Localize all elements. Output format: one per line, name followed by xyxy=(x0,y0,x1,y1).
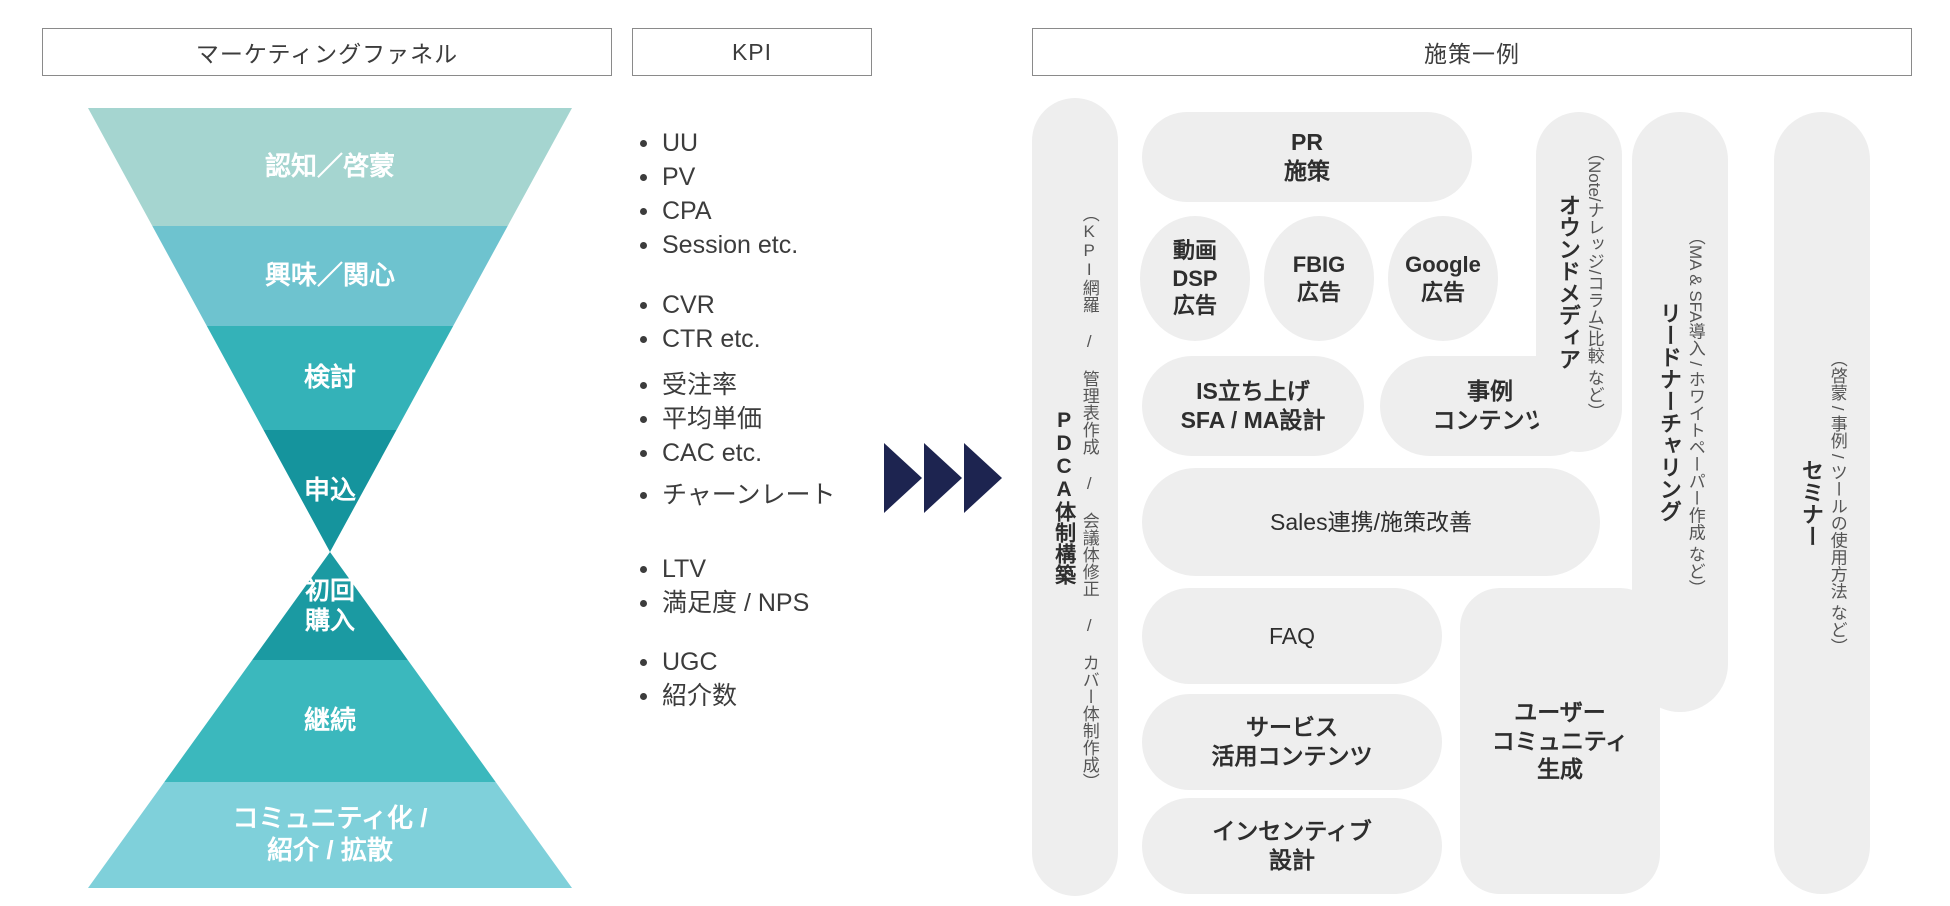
measure-card-is-setup[interactable]: IS立ち上げSFA / MA設計 xyxy=(1142,356,1364,456)
card-label: 動画DSP広告 xyxy=(1172,237,1217,320)
kpi-list: CVRCTR etc. xyxy=(636,288,966,356)
funnel-segment xyxy=(264,430,397,552)
kpi-item: LTV xyxy=(636,552,966,586)
measure-card-google-ad[interactable]: Google広告 xyxy=(1388,216,1498,341)
kpi-group: UGC紹介数 xyxy=(636,645,966,713)
kpi-list: LTV満足度 / NPS xyxy=(636,552,966,620)
measure-card-pdca[interactable]: PDCA体制構築（KPI網羅 / 管理表作成 / 会議体修正 / カバー体制作成… xyxy=(1032,98,1118,896)
funnel-segment xyxy=(164,660,495,782)
triangle-right-icon xyxy=(964,443,1002,513)
kpi-item: 紹介数 xyxy=(636,679,966,713)
header-measures-label: 施策一例 xyxy=(1424,35,1520,69)
measure-card-sales-linkage[interactable]: Sales連携/施策改善 xyxy=(1142,468,1600,576)
header-measures: 施策一例 xyxy=(1032,28,1912,76)
funnel-shape xyxy=(0,0,640,906)
measure-card-lead-nurture[interactable]: リードナーチャリング（MA & SFA導入 / ホワイトペーパー作成 など） xyxy=(1632,112,1728,712)
measures-panel: PDCA体制構築（KPI網羅 / 管理表作成 / 会議体修正 / カバー体制作成… xyxy=(1032,96,1922,896)
card-label: サービス活用コンテンツ xyxy=(1212,713,1373,771)
kpi-group: LTV満足度 / NPS xyxy=(636,552,966,620)
triangle-right-icon xyxy=(924,443,962,513)
measure-card-user-community[interactable]: ユーザーコミュニティ生成 xyxy=(1460,588,1660,894)
kpi-item: CTR etc. xyxy=(636,322,966,356)
kpi-item: 満足度 / NPS xyxy=(636,586,966,620)
seminar-subtitle: （啓蒙 / 事例 / ツールの使用方法 など） xyxy=(1825,350,1848,655)
flow-arrow-group xyxy=(884,443,1004,513)
measure-card-seminar[interactable]: セミナー（啓蒙 / 事例 / ツールの使用方法 など） xyxy=(1774,112,1870,894)
measure-card-owned-media[interactable]: オウンドメディア（Note/ナレッジ/コラム/比較 など） xyxy=(1536,112,1622,452)
kpi-list: UGC紹介数 xyxy=(636,645,966,713)
pdca-title: PDCA体制構築 xyxy=(1050,409,1077,585)
kpi-item: 平均単価 xyxy=(636,402,966,436)
card-label: Sales連携/施策改善 xyxy=(1270,508,1472,537)
kpi-item: UGC xyxy=(636,645,966,679)
card-label: PR施策 xyxy=(1284,128,1330,186)
funnel-segment xyxy=(88,782,572,888)
owned-media-subtitle: （Note/ナレッジ/コラム/比較 など） xyxy=(1582,144,1605,420)
funnel-segment xyxy=(207,326,453,430)
triangle-right-icon xyxy=(884,443,922,513)
funnel-segment xyxy=(88,108,572,226)
owned-media-title: オウンドメディア xyxy=(1553,194,1582,370)
seminar-title: セミナー xyxy=(1796,459,1825,547)
card-label: Google広告 xyxy=(1405,251,1481,306)
funnel-segment xyxy=(152,226,507,326)
kpi-group: UUPVCPASession etc. xyxy=(636,126,966,262)
measure-card-pr[interactable]: PR施策 xyxy=(1142,112,1472,202)
measure-card-video-dsp-ad[interactable]: 動画DSP広告 xyxy=(1140,216,1250,341)
kpi-item: CPA xyxy=(636,194,966,228)
card-label: IS立ち上げSFA / MA設計 xyxy=(1181,377,1326,435)
marketing-funnel-chart: 認知／啓蒙興味／関心検討申込初回購入継続コミュニティ化 /紹介 / 拡散 xyxy=(0,0,640,906)
lead-nurture-title: リードナーチャリング xyxy=(1654,302,1683,522)
kpi-item: 受注率 xyxy=(636,368,966,402)
kpi-item: UU xyxy=(636,126,966,160)
diagram-canvas: マーケティングファネル KPI 施策一例 認知／啓蒙興味／関心検討申込初回購入継… xyxy=(0,0,1950,906)
card-label: 事例コンテンツ xyxy=(1433,377,1548,435)
measure-card-fbig-ad[interactable]: FBIG広告 xyxy=(1264,216,1374,341)
measure-card-incentive[interactable]: インセンティブ設計 xyxy=(1142,798,1442,894)
kpi-item: CVR xyxy=(636,288,966,322)
card-label: FBIG広告 xyxy=(1293,251,1346,306)
measure-card-faq[interactable]: FAQ xyxy=(1142,588,1442,684)
card-label: インセンティブ設計 xyxy=(1212,817,1372,875)
pdca-subtitle: （KPI網羅 / 管理表作成 / 会議体修正 / カバー体制作成） xyxy=(1078,205,1100,790)
card-label: FAQ xyxy=(1269,622,1315,651)
kpi-list: UUPVCPASession etc. xyxy=(636,126,966,262)
funnel-segment xyxy=(252,552,408,660)
kpi-item: PV xyxy=(636,160,966,194)
kpi-item: Session etc. xyxy=(636,228,966,262)
kpi-group: CVRCTR etc. xyxy=(636,288,966,356)
lead-nurture-subtitle: （MA & SFA導入 / ホワイトペーパー作成 など） xyxy=(1683,228,1706,596)
card-label: ユーザーコミュニティ生成 xyxy=(1492,698,1629,784)
measure-card-service-content[interactable]: サービス活用コンテンツ xyxy=(1142,694,1442,790)
